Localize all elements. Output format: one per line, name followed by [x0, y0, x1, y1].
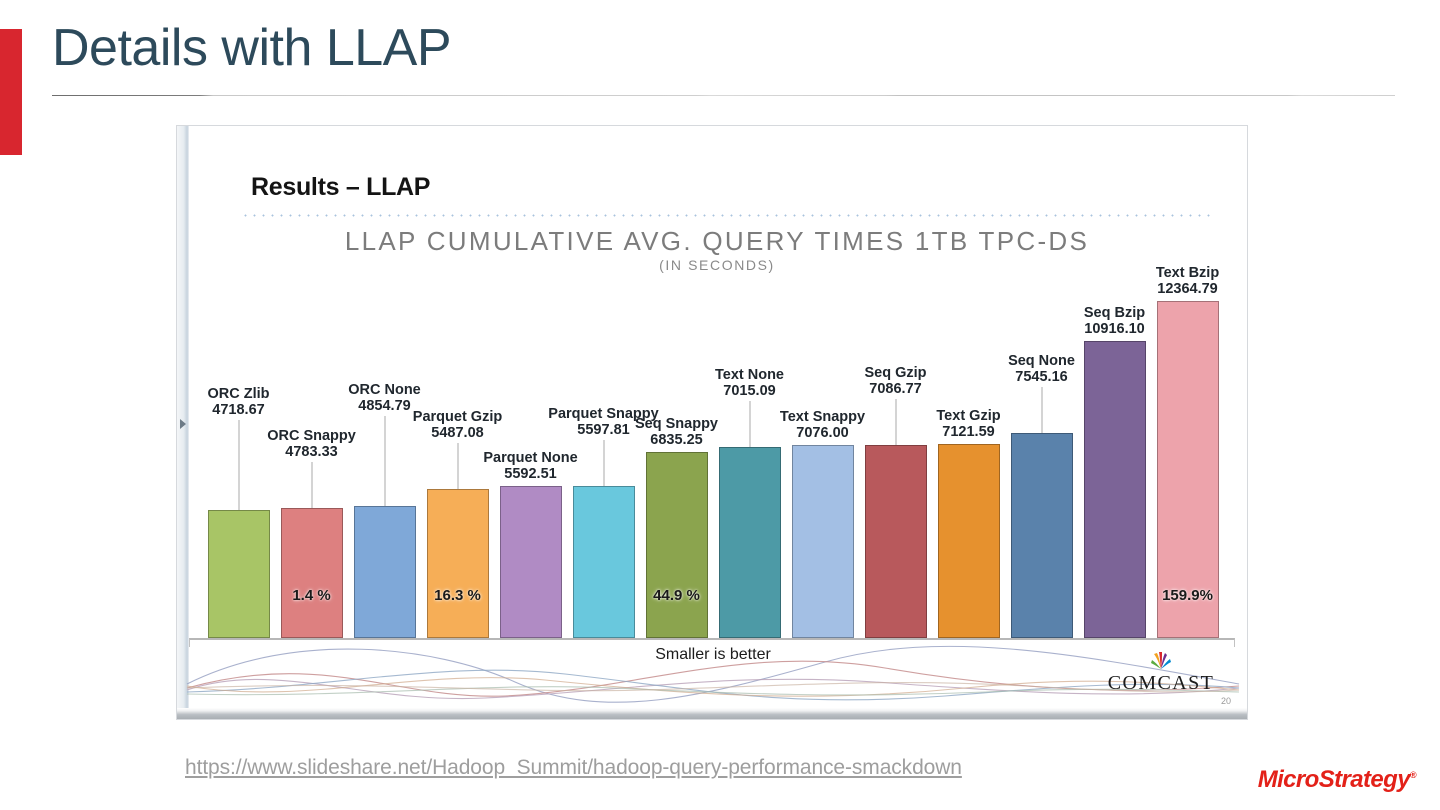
bar-callout-label: Seq Gzip7086.77: [864, 365, 926, 397]
bar: [865, 445, 927, 638]
callout-leader-line: [384, 416, 385, 506]
bar: [281, 508, 343, 638]
bar-category-name: ORC Zlib: [207, 386, 269, 402]
comcast-wordmark: COMCAST: [1097, 672, 1225, 695]
bar: [938, 444, 1000, 638]
bar-value-label: 10916.10: [1084, 321, 1145, 337]
callout-leader-line: [1041, 387, 1042, 433]
bar-column: Parquet Snappy5597.81: [573, 486, 635, 638]
bar-column: Seq Gzip7086.77: [865, 445, 927, 638]
embedded-slide-image[interactable]: Results – LLAP LLAP CUMULATIVE AVG. QUER…: [176, 125, 1248, 720]
bar-value-label: 5487.08: [413, 425, 502, 441]
bar-value-label: 4783.33: [267, 444, 356, 460]
slide-accent-bar: [0, 29, 22, 155]
bar: [500, 486, 562, 638]
microstrategy-wordmark: MicroStrategy: [1258, 766, 1410, 793]
chart-subtitle: (IN SECONDS): [177, 257, 1248, 273]
microstrategy-tm: ®: [1410, 770, 1416, 780]
bar-value-label: 4718.67: [207, 402, 269, 418]
bar-value-label: 7015.09: [715, 383, 784, 399]
bar-column: Seq None7545.16: [1011, 433, 1073, 638]
bar-callout-label: ORC None4854.79: [348, 382, 421, 414]
page-title: Details with LLAP: [52, 22, 451, 74]
bar-value-label: 12364.79: [1156, 281, 1219, 297]
bar-column: ORC Zlib4718.67: [208, 510, 270, 638]
bar: [719, 447, 781, 638]
bar-callout-label: Seq Bzip10916.10: [1084, 305, 1145, 337]
title-divider: [52, 95, 1395, 96]
slide-number: 20: [1221, 696, 1231, 706]
bar-category-name: Text Gzip: [936, 408, 1000, 424]
bar-callout-label: Parquet None5592.51: [483, 450, 577, 482]
bar-category-name: Parquet Gzip: [413, 409, 502, 425]
bar-callout-label: Seq None7545.16: [1008, 353, 1075, 385]
chart-title: LLAP CUMULATIVE AVG. QUERY TIMES 1TB TPC…: [177, 226, 1248, 257]
bar-column: 159.9%Text Bzip12364.79: [1157, 301, 1219, 638]
bar-category-name: Seq Bzip: [1084, 305, 1145, 321]
bar: [1011, 433, 1073, 638]
bar: [208, 510, 270, 638]
bar: [354, 506, 416, 638]
bar-callout-label: Text Gzip7121.59: [936, 408, 1000, 440]
bar-percentage-label: 16.3 %: [434, 587, 481, 604]
dotted-rule: [241, 214, 1211, 217]
callout-leader-line: [749, 401, 750, 447]
slide-bottom-bar: [177, 708, 1247, 719]
source-link[interactable]: https://www.slideshare.net/Hadoop_Summit…: [185, 756, 962, 780]
deck-section-title: Results – LLAP: [251, 173, 430, 202]
comcast-logo: COMCAST: [1097, 650, 1225, 695]
bar-column: 1.4 %ORC Snappy4783.33: [281, 508, 343, 638]
bar-category-name: ORC Snappy: [267, 428, 356, 444]
bar-category-name: Text None: [715, 367, 784, 383]
bar: [1084, 341, 1146, 638]
bar-callout-label: Parquet Gzip5487.08: [413, 409, 502, 441]
bar-category-name: Text Snappy: [780, 409, 865, 425]
bar-value-label: 7121.59: [936, 424, 1000, 440]
comcast-peacock-icon: [1149, 650, 1173, 670]
bar-value-label: 5597.81: [548, 422, 658, 438]
callout-leader-line: [895, 399, 896, 445]
bar-callout-label: Text None7015.09: [715, 367, 784, 399]
bar-percentage-label: 44.9 %: [653, 587, 700, 604]
microstrategy-logo: MicroStrategy®: [1258, 766, 1416, 794]
bar-category-name: Seq Snappy: [635, 416, 718, 432]
bar: [573, 486, 635, 638]
bar-chart-plot-area: ORC Zlib4718.671.4 %ORC Snappy4783.33ORC…: [189, 276, 1237, 638]
callout-leader-line: [603, 440, 604, 486]
bar-value-label: 7086.77: [864, 381, 926, 397]
bar-column: ORC None4854.79: [354, 506, 416, 638]
bar-column: 16.3 %Parquet Gzip5487.08: [427, 489, 489, 638]
bar-callout-label: Text Snappy7076.00: [780, 409, 865, 441]
bar-callout-label: Parquet Snappy5597.81: [548, 406, 658, 438]
bar-column: Parquet None5592.51: [500, 486, 562, 638]
bar-category-name: Parquet None: [483, 450, 577, 466]
bar-column: Text Snappy7076.00: [792, 445, 854, 638]
bar-value-label: 6835.25: [635, 432, 718, 448]
bar: [792, 445, 854, 638]
bar-callout-label: ORC Zlib4718.67: [207, 386, 269, 418]
bar-column: Text Gzip7121.59: [938, 444, 1000, 638]
bar: [427, 489, 489, 638]
bar-category-name: Parquet Snappy: [548, 406, 658, 422]
bar-category-name: ORC None: [348, 382, 421, 398]
callout-leader-line: [457, 443, 458, 489]
bar-callout-label: Seq Snappy6835.25: [635, 416, 718, 448]
bar-value-label: 7545.16: [1008, 369, 1075, 385]
callout-leader-line: [238, 420, 239, 510]
bar-column: Text None7015.09: [719, 447, 781, 638]
bar-callout-label: ORC Snappy4783.33: [267, 428, 356, 460]
bar-column: 44.9 %Seq Snappy6835.25: [646, 452, 708, 638]
bar: [646, 452, 708, 638]
bar-category-name: Seq Gzip: [864, 365, 926, 381]
bar-percentage-label: 159.9%: [1162, 587, 1213, 604]
decorative-swoosh-lines: [185, 638, 1241, 708]
bar-percentage-label: 1.4 %: [292, 587, 330, 604]
callout-leader-line: [311, 462, 312, 508]
bar-value-label: 4854.79: [348, 398, 421, 414]
bar-value-label: 7076.00: [780, 425, 865, 441]
bar-category-name: Seq None: [1008, 353, 1075, 369]
bar-column: Seq Bzip10916.10: [1084, 341, 1146, 638]
previous-slide-arrow-icon[interactable]: [180, 419, 186, 429]
bar-value-label: 5592.51: [483, 466, 577, 482]
